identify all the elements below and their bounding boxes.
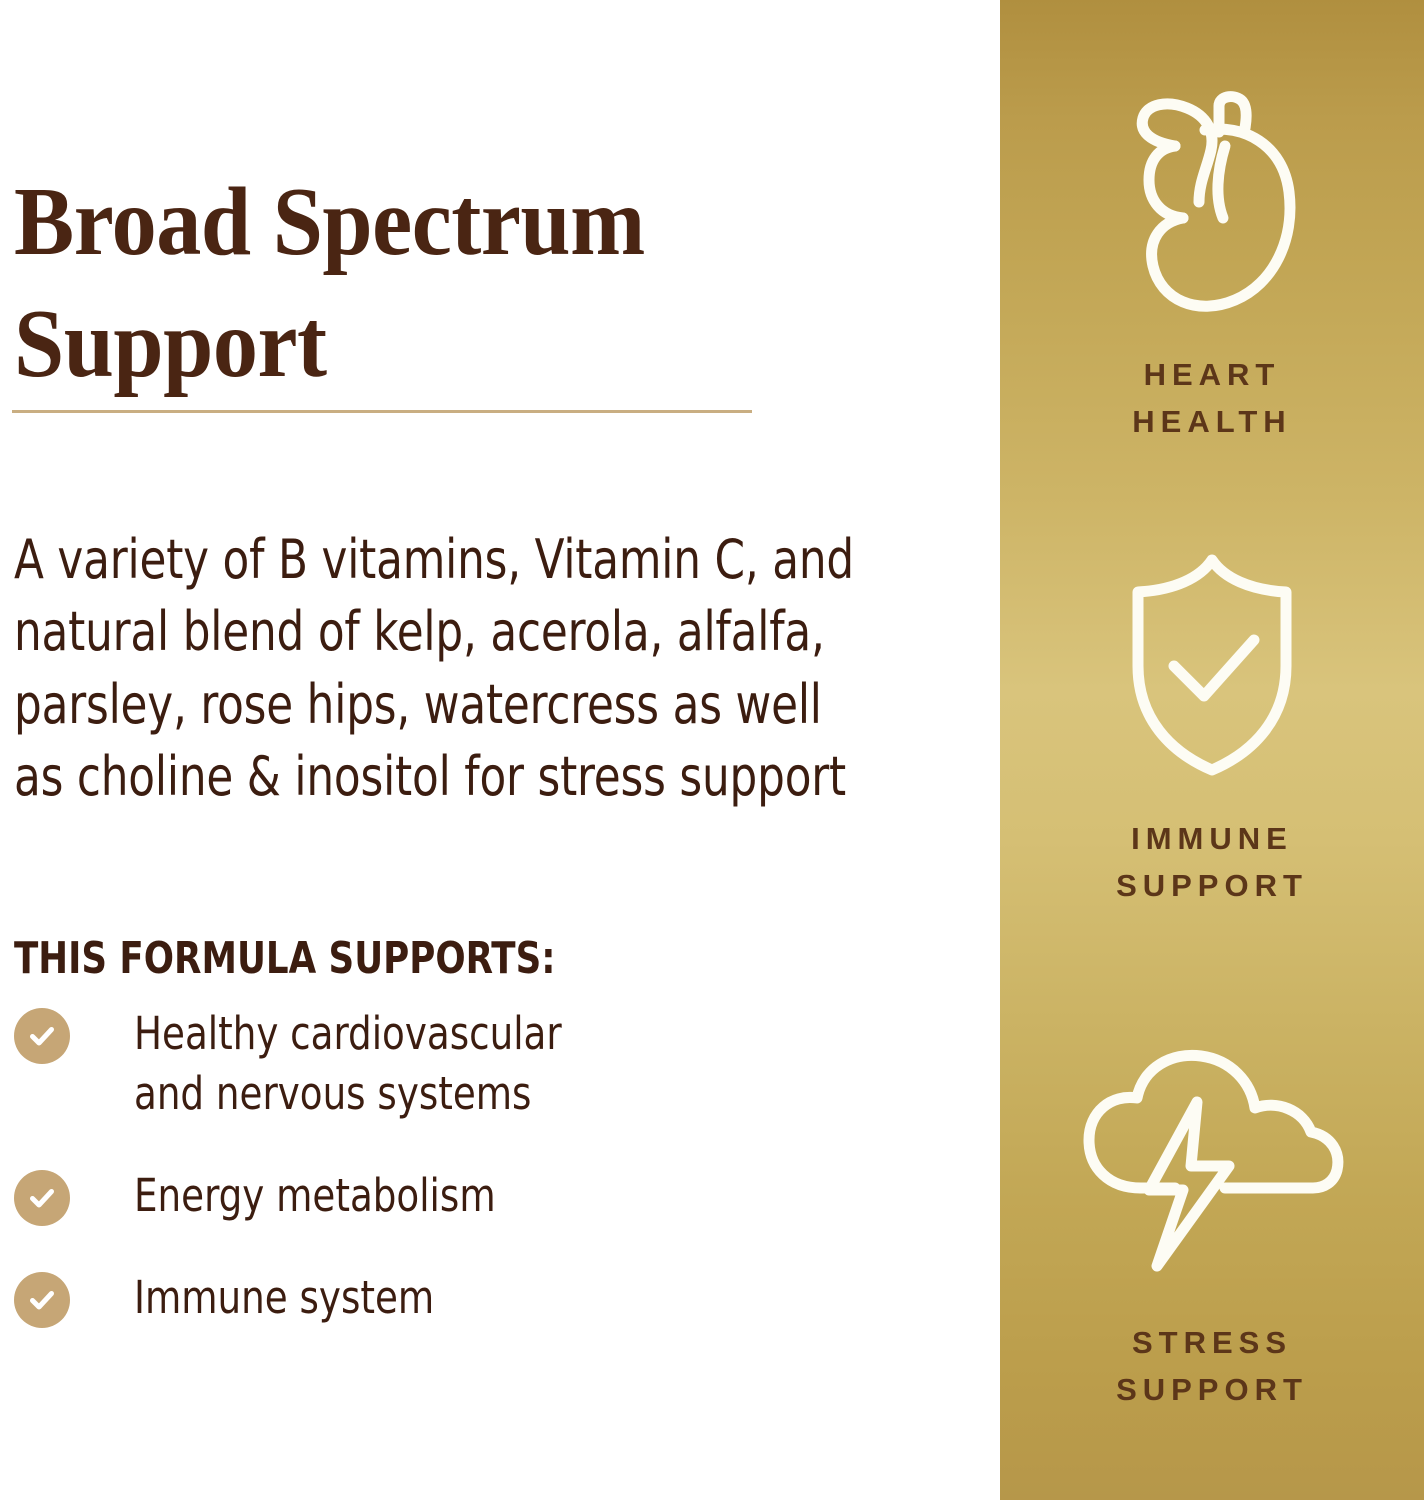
content-panel: Broad Spectrum Support A variety of B vi… — [0, 0, 1000, 1500]
feature-immune-support: IMMUNE SUPPORT — [1000, 548, 1424, 909]
cloud-lightning-icon — [1079, 1048, 1345, 1284]
list-item-label: Energy metabolism — [134, 1166, 496, 1226]
description-paragraph: A variety of B vitamins, Vitamin C, and … — [14, 524, 860, 813]
shield-check-icon — [1112, 548, 1312, 780]
benefits-list: Healthy cardiovascular and nervous syste… — [14, 1004, 874, 1370]
feature-label: IMMUNE SUPPORT — [1116, 816, 1308, 909]
feature-heart-health: HEART HEALTH — [1000, 88, 1424, 445]
supports-heading: THIS FORMULA SUPPORTS: — [14, 935, 555, 983]
anatomical-heart-icon — [1105, 88, 1319, 316]
check-icon — [14, 1008, 70, 1064]
feature-label: HEART HEALTH — [1132, 352, 1291, 445]
list-item: Healthy cardiovascular and nervous syste… — [14, 1004, 874, 1124]
list-item-label: Healthy cardiovascular and nervous syste… — [134, 1004, 562, 1124]
check-icon — [14, 1272, 70, 1328]
feature-sidebar: HEART HEALTH IMMUNE SUPPORT — [1000, 0, 1424, 1500]
title-divider — [12, 410, 752, 413]
list-item-label: Immune system — [134, 1268, 434, 1328]
list-item: Energy metabolism — [14, 1166, 874, 1226]
list-item: Immune system — [14, 1268, 874, 1328]
infographic-root: Broad Spectrum Support A variety of B vi… — [0, 0, 1424, 1500]
page-title: Broad Spectrum Support — [14, 161, 851, 405]
feature-label: STRESS SUPPORT — [1116, 1320, 1308, 1413]
feature-stress-support: STRESS SUPPORT — [1000, 1048, 1424, 1413]
check-icon — [14, 1170, 70, 1226]
